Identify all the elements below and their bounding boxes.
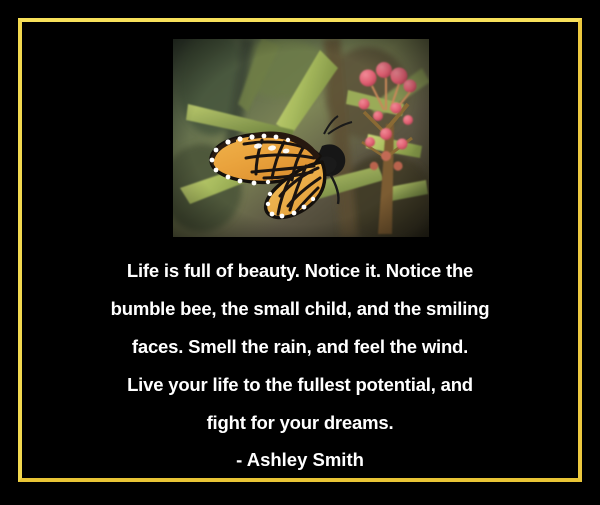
quote-line: fight for your dreams. [30,404,570,442]
quote-image-canvas: Life is full of beauty. Notice it. Notic… [0,0,600,505]
quote-line: faces. Smell the rain, and feel the wind… [30,328,570,366]
quote-text-block: Life is full of beauty. Notice it. Notic… [30,252,570,476]
quote-line: Life is full of beauty. Notice it. Notic… [30,252,570,290]
butterfly-photo [172,38,430,238]
butterfly-photo-graphic [172,38,430,238]
quote-line: Live your life to the fullest potential,… [30,366,570,404]
quote-line: bumble bee, the small child, and the smi… [30,290,570,328]
quote-attribution: - Ashley Smith [30,443,570,476]
